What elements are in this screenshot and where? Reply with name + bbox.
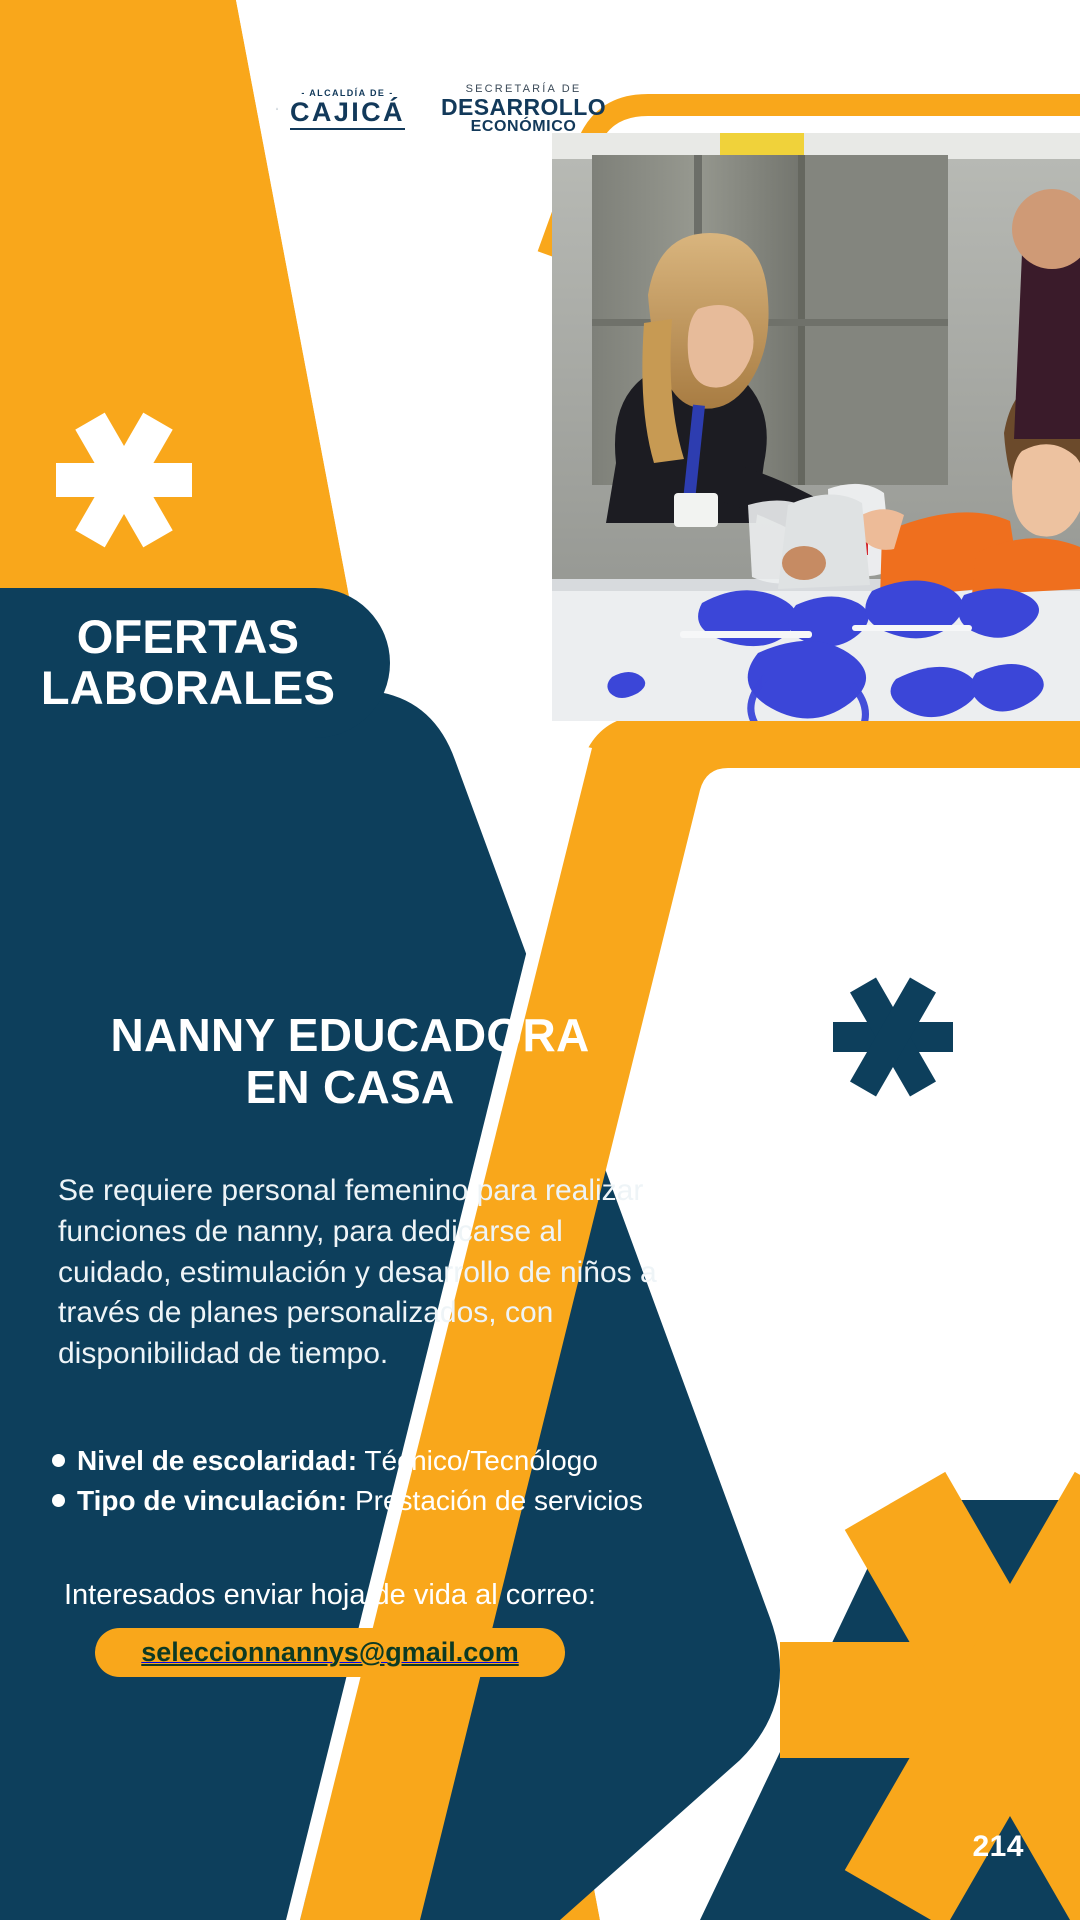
page-number: 214 <box>972 1830 1024 1864</box>
email-address: seleccionnannys@gmail.com <box>141 1637 518 1667</box>
detail-value: Técnico/Tecnólogo <box>364 1445 597 1476</box>
secretaria-line1: DESARROLLO <box>441 95 606 119</box>
brand-lockup: - ALCALDÍA DE - CAJICÁ SECRETARÍA DE DES… <box>276 78 606 140</box>
job-title: NANNY EDUCADORA EN CASA <box>30 1010 670 1113</box>
list-item: Nivel de escolaridad: Técnico/Tecnólogo <box>52 1441 712 1481</box>
bullet-dot-icon <box>52 1494 65 1507</box>
secretaria-line2: ECONÓMICO <box>441 119 606 136</box>
photo-frame <box>552 133 1080 721</box>
detail-label: Nivel de escolaridad: <box>77 1445 357 1476</box>
bullet-dot-icon <box>52 1454 65 1467</box>
contact-cta: Interesados enviar hoja de vida al corre… <box>0 1579 660 1677</box>
badge-line-1: OFERTAS <box>41 612 335 663</box>
list-item: Tipo de vinculación: Prestación de servi… <box>52 1481 712 1521</box>
ofertas-laborales-badge: OFERTAS LABORALES <box>0 588 390 738</box>
cajica-coat-of-arms-icon <box>276 80 278 138</box>
badge-line-2: LABORALES <box>41 663 335 714</box>
job-title-line-2: EN CASA <box>30 1062 670 1114</box>
job-description: Se requiere personal femenino para reali… <box>58 1171 658 1375</box>
secretaria-kicker: SECRETARÍA DE <box>441 83 606 95</box>
badge-label: OFERTAS LABORALES <box>15 612 335 714</box>
poster-canvas: - ALCALDÍA DE - CAJICÁ SECRETARÍA DE DES… <box>0 0 1080 1920</box>
detail-value: Prestación de servicios <box>355 1485 643 1516</box>
alcaldia-name: CAJICÁ <box>290 98 405 130</box>
job-posting-content: NANNY EDUCADORA EN CASA Se requiere pers… <box>0 1010 700 1677</box>
detail-label: Tipo de vinculación: <box>77 1485 347 1516</box>
job-title-line-1: NANNY EDUCADORA <box>30 1010 670 1062</box>
email-button[interactable]: seleccionnannys@gmail.com <box>95 1628 564 1677</box>
event-photo <box>552 133 1080 721</box>
cta-instruction: Interesados enviar hoja de vida al corre… <box>0 1579 660 1612</box>
job-details-list: Nivel de escolaridad: Técnico/Tecnólogo … <box>52 1441 712 1521</box>
